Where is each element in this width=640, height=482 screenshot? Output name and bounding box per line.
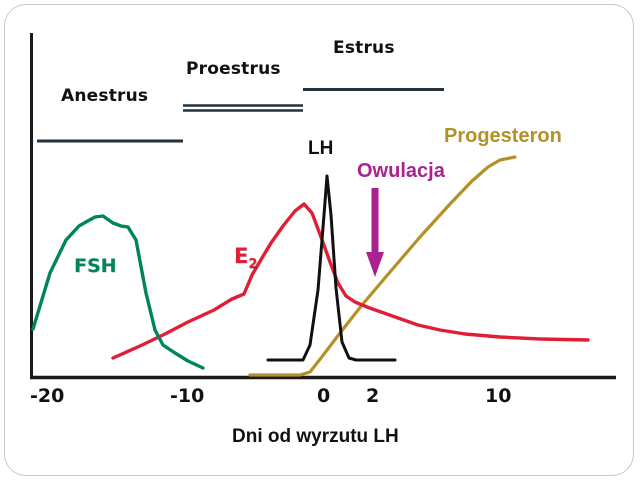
e2-label-subscript: 2 xyxy=(248,257,257,272)
fsh-series-label: FSH xyxy=(74,257,117,276)
xtick-label-2: 2 xyxy=(366,387,379,406)
estrus-label: Estrus xyxy=(333,40,395,57)
e2-label-main: E xyxy=(234,244,248,268)
e2-series-label: E2 xyxy=(234,246,257,271)
xtick-label-0: 0 xyxy=(317,387,330,406)
xtick-label-minus10: -10 xyxy=(170,387,204,406)
fsh-curve xyxy=(33,216,203,368)
lh-series-label: LH xyxy=(308,139,333,158)
owulacja-arrow-head xyxy=(366,252,384,277)
e2-curve xyxy=(113,204,588,358)
proestrus-label: Proestrus xyxy=(186,61,281,78)
owulacja-label: Owulacja xyxy=(357,161,445,181)
xtick-label-10: 10 xyxy=(485,387,511,406)
anestrus-label: Anestrus xyxy=(61,88,148,105)
owulacja-arrow xyxy=(366,188,384,277)
x-axis-title: Dni od wyrzutu LH xyxy=(232,427,399,446)
progesteron-curve xyxy=(250,157,515,375)
figure-root: Anestrus Proestrus Estrus FSH E2 LH Owul… xyxy=(0,0,640,482)
chart-canvas xyxy=(0,0,640,482)
progesteron-series-label: Progesteron xyxy=(444,126,562,146)
xtick-label-minus20: -20 xyxy=(30,387,64,406)
